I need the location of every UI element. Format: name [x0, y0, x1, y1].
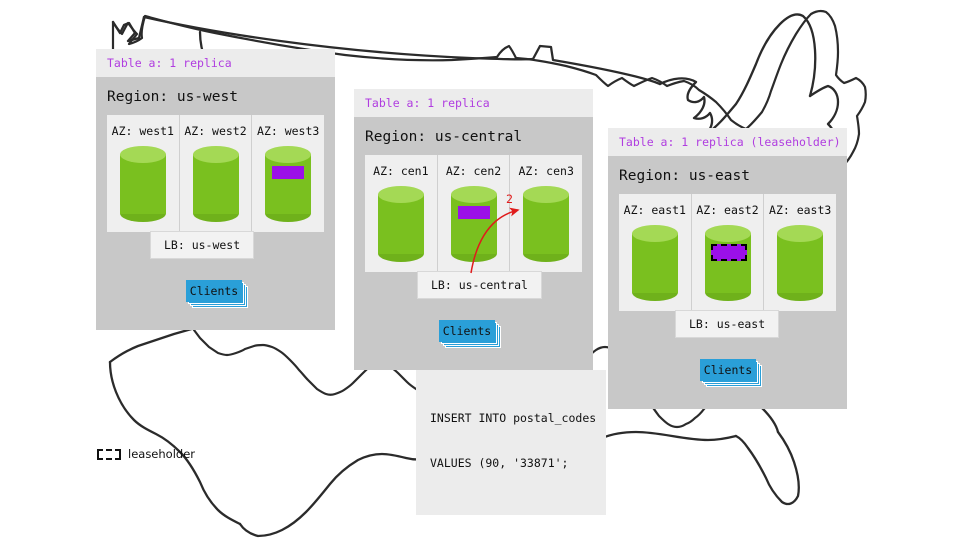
- az-label-east2: AZ: east2: [692, 203, 764, 217]
- cylinder-top-icon: [378, 186, 424, 203]
- clients-label-us-central: Clients: [439, 320, 495, 342]
- az-label-east3: AZ: east3: [764, 203, 836, 217]
- region-label-us-central: Region: us-central: [354, 117, 593, 155]
- region-panel-us-east: Table a: 1 replica (leaseholder) Region:…: [608, 128, 847, 409]
- cylinder-top-icon: [265, 146, 311, 163]
- az-cell-west2[interactable]: AZ: west2: [180, 115, 253, 232]
- cylinder-body-icon: [632, 233, 678, 293]
- az-cell-east3[interactable]: AZ: east3: [764, 194, 836, 311]
- cylinder-top-icon: [451, 186, 497, 203]
- node-cylinder-west3[interactable]: [265, 146, 311, 222]
- node-cylinder-east1[interactable]: [632, 225, 678, 301]
- cylinder-body-icon: [777, 233, 823, 293]
- replica-marker-west3: [272, 166, 304, 179]
- clients-stack-us-east[interactable]: Clients: [700, 359, 756, 381]
- panel-title-us-west: Table a: 1 replica: [96, 49, 335, 77]
- region-label-us-east: Region: us-east: [608, 156, 847, 194]
- cylinder-body-icon: [705, 233, 751, 293]
- clients-stack-us-central[interactable]: Clients: [439, 320, 495, 342]
- load-balancer-us-central[interactable]: LB: us-central: [417, 271, 542, 299]
- panel-title-us-central: Table a: 1 replica: [354, 89, 593, 117]
- leaseholder-dashed-rect-icon: [97, 449, 121, 460]
- cylinder-body-icon: [120, 154, 166, 214]
- az-cell-cen1[interactable]: AZ: cen1: [365, 155, 438, 272]
- az-strip-us-west: AZ: west1 AZ: west2 AZ: west3: [107, 115, 324, 232]
- cylinder-top-icon: [523, 186, 569, 203]
- sql-line-2: VALUES (90, '33871';: [430, 456, 592, 471]
- az-cell-east2[interactable]: AZ: east2: [692, 194, 765, 311]
- cylinder-top-icon: [120, 146, 166, 163]
- az-strip-us-central: AZ: cen1 AZ: cen2 AZ: cen3: [365, 155, 582, 272]
- node-cylinder-cen2[interactable]: [451, 186, 497, 262]
- az-cell-cen3[interactable]: AZ: cen3: [510, 155, 582, 272]
- cylinder-body-icon: [451, 194, 497, 254]
- cylinder-body-icon: [378, 194, 424, 254]
- clients-label-us-east: Clients: [700, 359, 756, 381]
- az-label-west2: AZ: west2: [180, 124, 252, 138]
- az-cell-west3[interactable]: AZ: west3: [252, 115, 324, 232]
- az-label-cen2: AZ: cen2: [438, 164, 510, 178]
- replica-marker-cen2: [458, 206, 490, 219]
- cylinder-body-icon: [523, 194, 569, 254]
- az-strip-us-east: AZ: east1 AZ: east2 AZ: east3: [619, 194, 836, 311]
- sql-line-1: INSERT INTO postal_codes: [430, 411, 592, 426]
- node-cylinder-west2[interactable]: [193, 146, 239, 222]
- cylinder-top-icon: [777, 225, 823, 242]
- az-cell-west1[interactable]: AZ: west1: [107, 115, 180, 232]
- region-panel-us-central: Table a: 1 replica Region: us-central AZ…: [354, 89, 593, 370]
- az-label-west1: AZ: west1: [107, 124, 179, 138]
- legend-label: leaseholder: [128, 447, 195, 461]
- az-label-cen1: AZ: cen1: [365, 164, 437, 178]
- node-cylinder-west1[interactable]: [120, 146, 166, 222]
- cylinder-top-icon: [705, 225, 751, 242]
- cylinder-top-icon: [632, 225, 678, 242]
- sql-statement-box: INSERT INTO postal_codes VALUES (90, '33…: [416, 370, 606, 515]
- node-cylinder-east2[interactable]: [705, 225, 751, 301]
- az-label-west3: AZ: west3: [252, 124, 324, 138]
- clients-stack-us-west[interactable]: Clients: [186, 280, 242, 302]
- node-cylinder-east3[interactable]: [777, 225, 823, 301]
- az-cell-east1[interactable]: AZ: east1: [619, 194, 692, 311]
- replica-marker-leaseholder-east2: [711, 244, 747, 261]
- load-balancer-us-west[interactable]: LB: us-west: [150, 231, 254, 259]
- node-cylinder-cen3[interactable]: [523, 186, 569, 262]
- cylinder-body-icon: [193, 154, 239, 214]
- clients-label-us-west: Clients: [186, 280, 242, 302]
- panel-title-us-east: Table a: 1 replica (leaseholder): [608, 128, 847, 156]
- az-label-cen3: AZ: cen3: [510, 164, 582, 178]
- diagram-canvas: Table a: 1 replica Region: us-west AZ: w…: [0, 0, 960, 540]
- region-panel-us-west: Table a: 1 replica Region: us-west AZ: w…: [96, 49, 335, 330]
- az-cell-cen2[interactable]: AZ: cen2: [438, 155, 511, 272]
- node-cylinder-cen1[interactable]: [378, 186, 424, 262]
- load-balancer-us-east[interactable]: LB: us-east: [675, 310, 779, 338]
- az-label-east1: AZ: east1: [619, 203, 691, 217]
- cylinder-body-icon: [265, 154, 311, 214]
- region-label-us-west: Region: us-west: [96, 77, 335, 115]
- legend: leaseholder: [97, 447, 195, 461]
- cylinder-top-icon: [193, 146, 239, 163]
